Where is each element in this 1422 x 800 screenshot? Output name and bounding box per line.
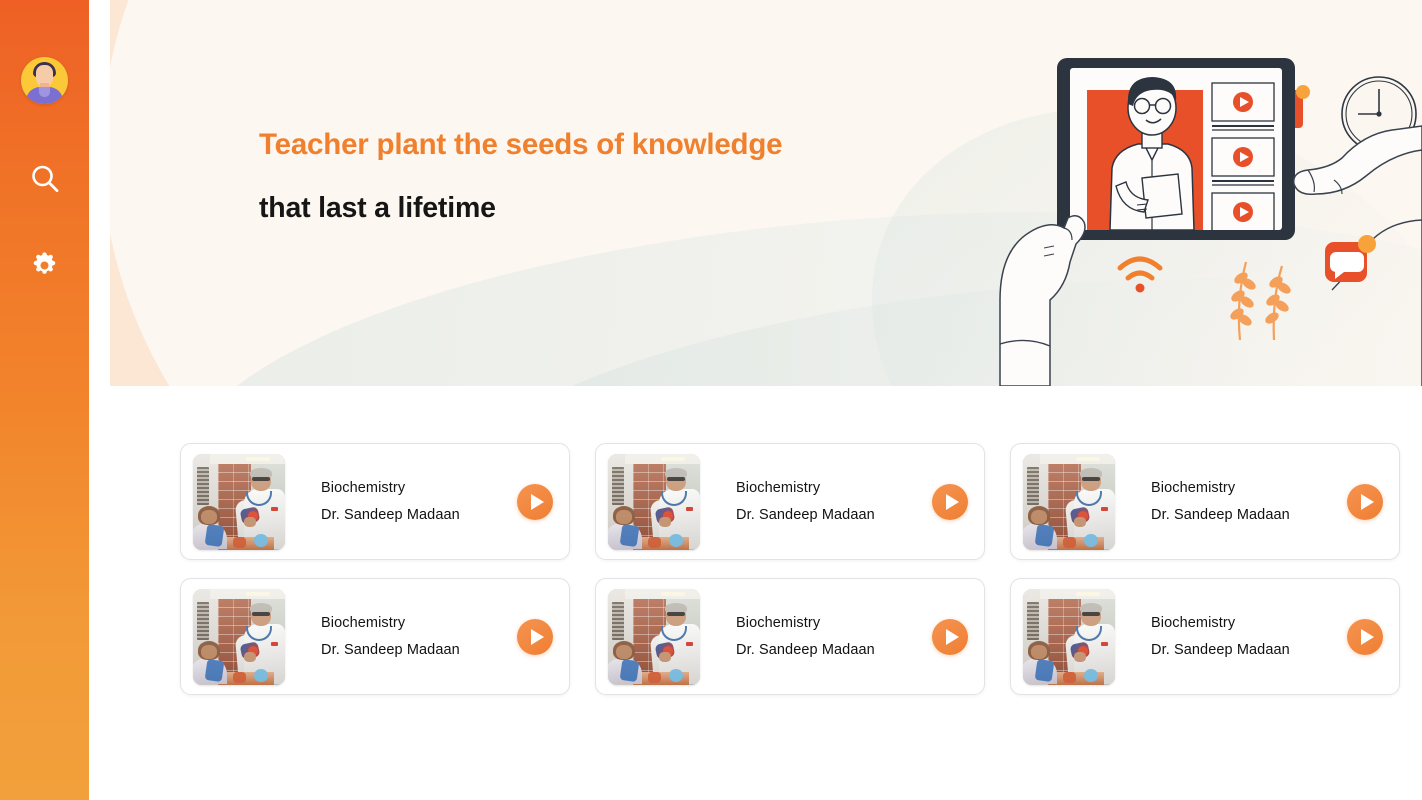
course-info: Biochemistry Dr. Sandeep Madaan xyxy=(285,481,517,523)
course-title: Biochemistry xyxy=(1151,616,1347,631)
play-icon xyxy=(531,494,544,510)
course-title: Biochemistry xyxy=(321,481,517,496)
video-thumb-3 xyxy=(1212,193,1274,236)
course-card[interactable]: Biochemistry Dr. Sandeep Madaan xyxy=(180,578,570,695)
play-icon xyxy=(1361,629,1374,645)
course-thumbnail xyxy=(193,589,285,685)
app-root: Teacher plant the seeds of knowledge tha… xyxy=(0,0,1422,800)
course-info: Biochemistry Dr. Sandeep Madaan xyxy=(285,616,517,658)
play-icon xyxy=(946,629,959,645)
hero-text-block: Teacher plant the seeds of knowledge tha… xyxy=(259,130,782,222)
message-icon xyxy=(1325,235,1376,282)
course-card[interactable]: Biochemistry Dr. Sandeep Madaan xyxy=(180,443,570,560)
hero-headline-line1: Teacher plant the seeds of knowledge xyxy=(259,130,782,160)
course-instructor: Dr. Sandeep Madaan xyxy=(736,508,932,523)
online-learning-illustration xyxy=(992,0,1422,386)
play-button[interactable] xyxy=(1347,484,1383,520)
course-title: Biochemistry xyxy=(736,481,932,496)
course-info: Biochemistry Dr. Sandeep Madaan xyxy=(1115,616,1347,658)
course-thumbnail xyxy=(1023,454,1115,550)
play-button[interactable] xyxy=(517,484,553,520)
play-icon xyxy=(1361,494,1374,510)
course-instructor: Dr. Sandeep Madaan xyxy=(321,508,517,523)
course-thumbnail xyxy=(193,454,285,550)
play-button[interactable] xyxy=(932,619,968,655)
play-button[interactable] xyxy=(517,619,553,655)
play-button[interactable] xyxy=(932,484,968,520)
gear-icon xyxy=(29,250,60,281)
course-instructor: Dr. Sandeep Madaan xyxy=(321,643,517,658)
sidebar-item-settings[interactable] xyxy=(21,242,68,289)
play-button[interactable] xyxy=(1347,619,1383,655)
search-icon xyxy=(29,163,61,195)
course-title: Biochemistry xyxy=(321,616,517,631)
course-thumbnail xyxy=(608,589,700,685)
teacher-on-screen xyxy=(1087,77,1203,230)
course-instructor: Dr. Sandeep Madaan xyxy=(1151,508,1347,523)
course-card[interactable]: Biochemistry Dr. Sandeep Madaan xyxy=(1010,578,1400,695)
course-title: Biochemistry xyxy=(736,616,932,631)
play-icon xyxy=(946,494,959,510)
video-thumbnail-list xyxy=(1212,83,1274,236)
course-title: Biochemistry xyxy=(1151,481,1347,496)
course-info: Biochemistry Dr. Sandeep Madaan xyxy=(700,481,932,523)
main-content: Teacher plant the seeds of knowledge tha… xyxy=(89,0,1422,800)
hero-banner: Teacher plant the seeds of knowledge tha… xyxy=(110,0,1422,386)
course-card[interactable]: Biochemistry Dr. Sandeep Madaan xyxy=(595,578,985,695)
course-thumbnail xyxy=(1023,589,1115,685)
hero-headline-line2: that last a lifetime xyxy=(259,194,782,223)
sidebar-item-search[interactable] xyxy=(21,155,68,202)
course-instructor: Dr. Sandeep Madaan xyxy=(736,643,932,658)
course-card[interactable]: Biochemistry Dr. Sandeep Madaan xyxy=(1010,443,1400,560)
avatar-collar xyxy=(39,87,50,97)
plant-sprigs xyxy=(1229,262,1292,340)
wifi-icon xyxy=(1120,259,1160,293)
left-hand xyxy=(1000,216,1085,386)
course-info: Biochemistry Dr. Sandeep Madaan xyxy=(1115,481,1347,523)
course-thumbnail xyxy=(608,454,700,550)
sidebar xyxy=(0,0,89,800)
course-card[interactable]: Biochemistry Dr. Sandeep Madaan xyxy=(595,443,985,560)
course-grid: Biochemistry Dr. Sandeep Madaan xyxy=(180,443,1400,695)
course-instructor: Dr. Sandeep Madaan xyxy=(1151,643,1347,658)
course-info: Biochemistry Dr. Sandeep Madaan xyxy=(700,616,932,658)
play-icon xyxy=(531,629,544,645)
user-avatar[interactable] xyxy=(21,57,68,104)
